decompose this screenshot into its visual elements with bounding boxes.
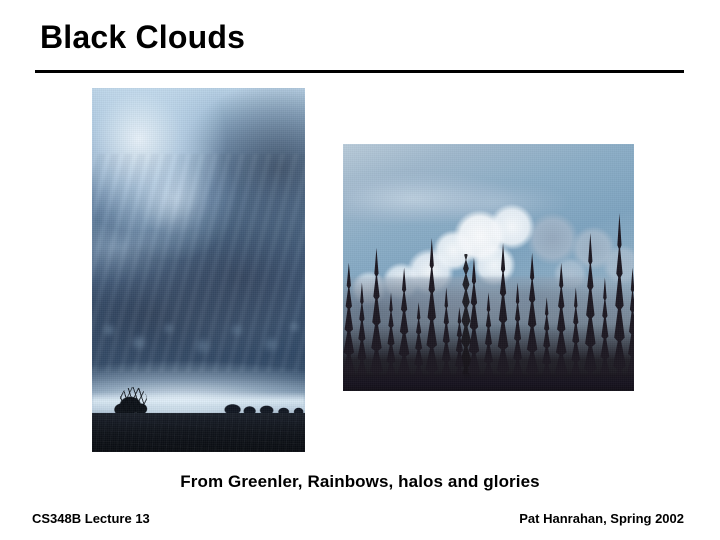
footer-author-label: Pat Hanrahan, Spring 2002	[519, 511, 684, 526]
title-divider	[35, 70, 684, 73]
bare-tree-branches	[120, 387, 148, 412]
storm-cloud-photo	[92, 88, 305, 452]
footer-course-label: CS348B Lecture 13	[32, 511, 150, 526]
page-title: Black Clouds	[40, 18, 245, 56]
mammatus-cloud-lobes	[92, 306, 305, 386]
cumulus-forest-photo	[343, 144, 634, 391]
figure-caption: From Greenler, Rainbows, halos and glori…	[0, 472, 720, 492]
forest-floor	[343, 374, 634, 391]
slide-canvas: Black Clouds	[0, 0, 720, 540]
field-texture	[92, 413, 305, 452]
